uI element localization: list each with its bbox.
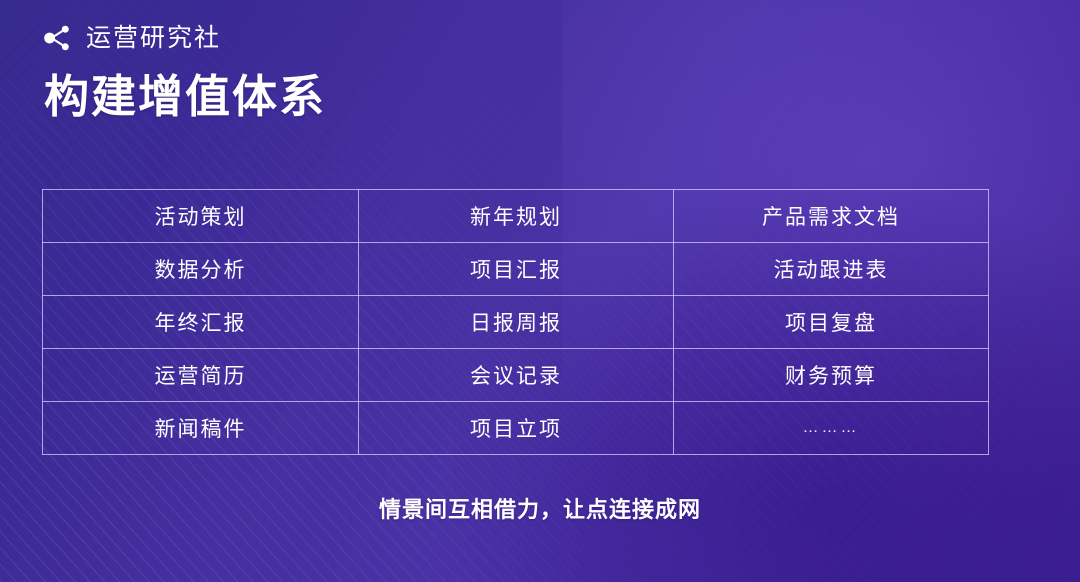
share-nodes-icon (40, 21, 74, 55)
table-cell: 日报周报 (359, 296, 674, 349)
table-cell: 年终汇报 (43, 296, 359, 349)
table-cell: 产品需求文档 (674, 190, 989, 243)
footer-caption: 情景间互相借力，让点连接成网 (0, 492, 1080, 524)
value-system-table: 活动策划 新年规划 产品需求文档 数据分析 项目汇报 活动跟进表 年终汇报 日报… (42, 189, 989, 455)
brand-name: 运营研究社 (86, 26, 221, 51)
table-row: 年终汇报 日报周报 项目复盘 (43, 296, 989, 349)
table-row: 数据分析 项目汇报 活动跟进表 (43, 243, 989, 296)
table-cell: 数据分析 (43, 243, 359, 296)
brand-lockup: 运营研究社 (40, 18, 221, 58)
table-cell: 项目汇报 (359, 243, 674, 296)
table-cell: 新闻稿件 (43, 402, 359, 455)
table-cell: 会议记录 (359, 349, 674, 402)
table-cell: 运营简历 (43, 349, 359, 402)
table-cell-ellipsis: ……… (674, 402, 989, 455)
page-title: 构建增值体系 (44, 70, 326, 124)
table-cell: 财务预算 (674, 349, 989, 402)
slide-canvas: 运营研究社 构建增值体系 活动策划 新年规划 产品需求文档 数据分析 项目汇报 … (0, 0, 1080, 582)
table-row: 运营简历 会议记录 财务预算 (43, 349, 989, 402)
table-cell: 项目立项 (359, 402, 674, 455)
table-cell: 新年规划 (359, 190, 674, 243)
table-row: 新闻稿件 项目立项 ……… (43, 402, 989, 455)
table-cell: 活动跟进表 (674, 243, 989, 296)
table-cell: 项目复盘 (674, 296, 989, 349)
table-cell: 活动策划 (43, 190, 359, 243)
table-row: 活动策划 新年规划 产品需求文档 (43, 190, 989, 243)
